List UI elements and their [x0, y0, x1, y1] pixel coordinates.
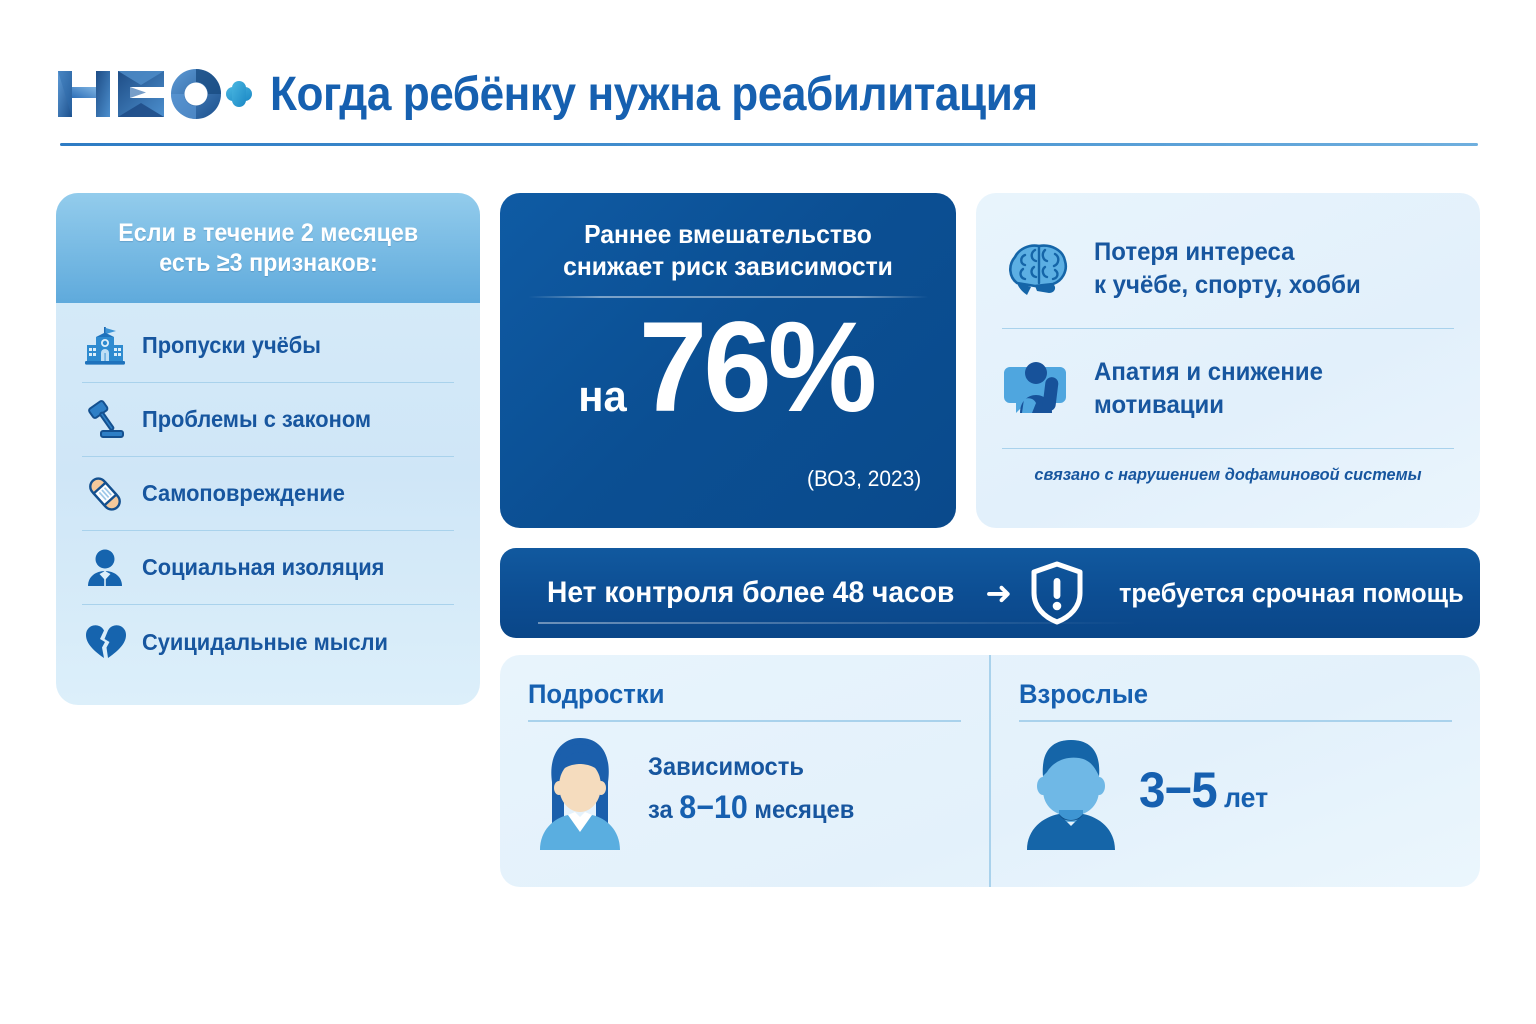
gavel-icon	[82, 397, 128, 443]
urgent-banner: Нет контроля более 48 часов ➜ требуется …	[500, 548, 1480, 638]
statistic-figure: на 76%	[500, 304, 956, 432]
arrow-right-icon: ➜	[985, 577, 1012, 609]
teens-body: Зависимость за 8−10 месяцев	[528, 730, 961, 850]
urgent-underline	[538, 622, 1138, 624]
urgent-condition-text: Нет контроля более 48 часов	[547, 576, 954, 610]
signs-panel-header: Если в течение 2 месяцев есть ≥3 признак…	[56, 193, 480, 303]
signs-list: Пропуски учёбы Проблемы с законом	[56, 303, 480, 689]
symptom-label: Апатия и снижение мотивации	[1094, 356, 1323, 422]
bandage-icon	[82, 471, 128, 517]
teens-text: Зависимость за 8−10 месяцев	[648, 752, 865, 828]
signs-header-line1: Если в течение 2 месяцев	[118, 218, 418, 249]
adults-duration-unit: лет	[1217, 782, 1268, 813]
page-header: Когда ребёнку нужна реабилитация	[56, 44, 1480, 144]
apathy-person-icon	[1002, 353, 1074, 425]
teens-divider	[528, 720, 961, 722]
teens-prefix: за	[648, 796, 679, 824]
list-item: Суицидальные мысли	[82, 605, 454, 679]
sign-label: Социальная изоляция	[142, 554, 384, 581]
statistic-prefix: на	[579, 372, 627, 422]
sign-label: Проблемы с законом	[142, 406, 371, 433]
symptom-label: Потеря интереса к учёбе, спорту, хобби	[1094, 236, 1361, 302]
comparison-card: Подростки Зависимость	[500, 655, 1480, 887]
comparison-column-adults: Взрослые 3−5 лет	[989, 655, 1480, 887]
comparison-column-teens: Подростки Зависимость	[500, 655, 989, 887]
sign-label: Самоповреждение	[142, 480, 345, 507]
page-title: Когда ребёнку нужна реабилитация	[270, 67, 1038, 122]
urgent-action-text: требуется срочная помощь	[1119, 578, 1464, 609]
statistic-card: Раннее вмешательство снижает риск зависи…	[500, 193, 956, 528]
infographic-page: Когда ребёнку нужна реабилитация Если в …	[0, 0, 1536, 1024]
statistic-value: 76%	[639, 304, 873, 432]
list-item: Апатия и снижение мотивации	[1002, 329, 1454, 449]
list-item: Потеря интереса к учёбе, спорту, хобби	[1002, 209, 1454, 329]
statistic-headline-line1: Раннее вмешательство	[536, 219, 920, 251]
symptoms-footnote: связано с нарушением дофаминовой системы	[1011, 449, 1445, 485]
list-item: Самоповреждение	[82, 457, 454, 531]
neo-plus-logo	[56, 65, 252, 123]
statistic-headline-line2: снижает риск зависимости	[536, 251, 920, 283]
teen-girl-avatar	[528, 730, 632, 850]
school-icon	[82, 323, 128, 369]
broken-heart-icon	[82, 619, 128, 665]
adults-text: 3−5 лет	[1139, 761, 1268, 819]
list-item: Проблемы с законом	[82, 383, 454, 457]
statistic-headline: Раннее вмешательство снижает риск зависи…	[511, 193, 944, 282]
shield-exclamation-icon	[1030, 561, 1084, 625]
list-item: Социальная изоляция	[82, 531, 454, 605]
teens-line1: Зависимость	[648, 752, 854, 784]
adults-title: Взрослые	[1019, 679, 1430, 710]
adults-duration-value: 3−5	[1139, 762, 1217, 818]
brain-icon	[1002, 233, 1074, 305]
teens-line2: за 8−10 месяцев	[648, 787, 854, 827]
person-icon	[82, 545, 128, 591]
adults-divider	[1019, 720, 1452, 722]
header-divider	[60, 143, 1478, 146]
adults-body: 3−5 лет	[1019, 730, 1452, 850]
teens-title: Подростки	[528, 679, 939, 710]
signs-header-line2: есть ≥3 признаков:	[159, 248, 377, 279]
statistic-source: (ВОЗ, 2023)	[807, 466, 921, 492]
symptoms-card: Потеря интереса к учёбе, спорту, хобби А…	[976, 193, 1480, 528]
adult-man-avatar	[1019, 730, 1123, 850]
teens-duration-value: 8−10	[679, 789, 747, 825]
list-item: Пропуски учёбы	[82, 309, 454, 383]
teens-suffix: месяцев	[748, 796, 855, 824]
sign-label: Суицидальные мысли	[142, 629, 388, 656]
signs-panel: Если в течение 2 месяцев есть ≥3 признак…	[56, 193, 480, 705]
sign-label: Пропуски учёбы	[142, 332, 321, 359]
